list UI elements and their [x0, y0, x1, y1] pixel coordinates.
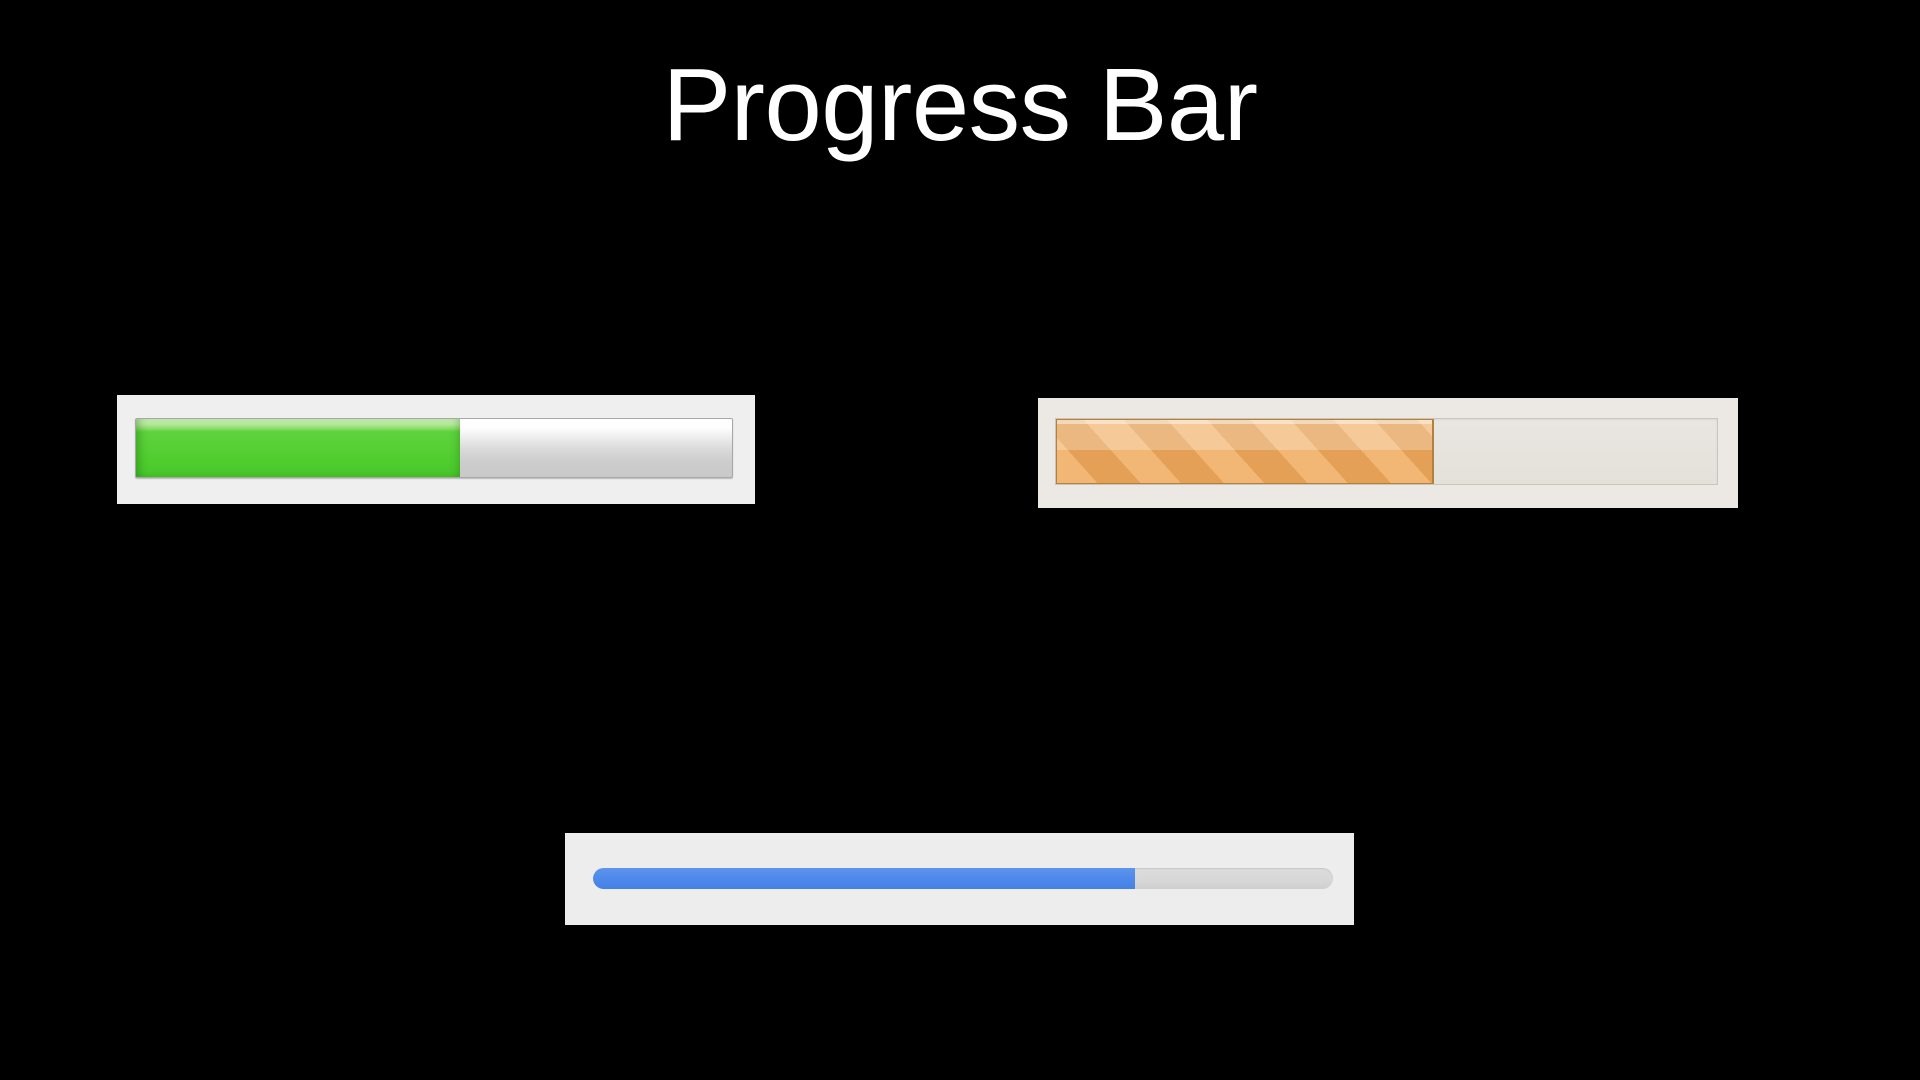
- progress-bar-blue-panel: [565, 833, 1354, 925]
- fill-top-edge-light: [1057, 420, 1432, 424]
- progress-bar-orange-panel: [1038, 398, 1738, 508]
- progress-bar-orange-fill: [1055, 418, 1434, 485]
- progress-bar-orange-track[interactable]: [1055, 418, 1718, 485]
- progress-bar-green-panel: [117, 395, 755, 504]
- page-title: Progress Bar: [0, 47, 1920, 162]
- progress-bar-blue-track[interactable]: [593, 868, 1333, 889]
- progress-bar-green-fill: [136, 419, 460, 477]
- progress-bar-green-track[interactable]: [135, 418, 733, 478]
- fill-top-highlight: [1057, 420, 1432, 450]
- progress-bar-blue-fill: [593, 868, 1135, 889]
